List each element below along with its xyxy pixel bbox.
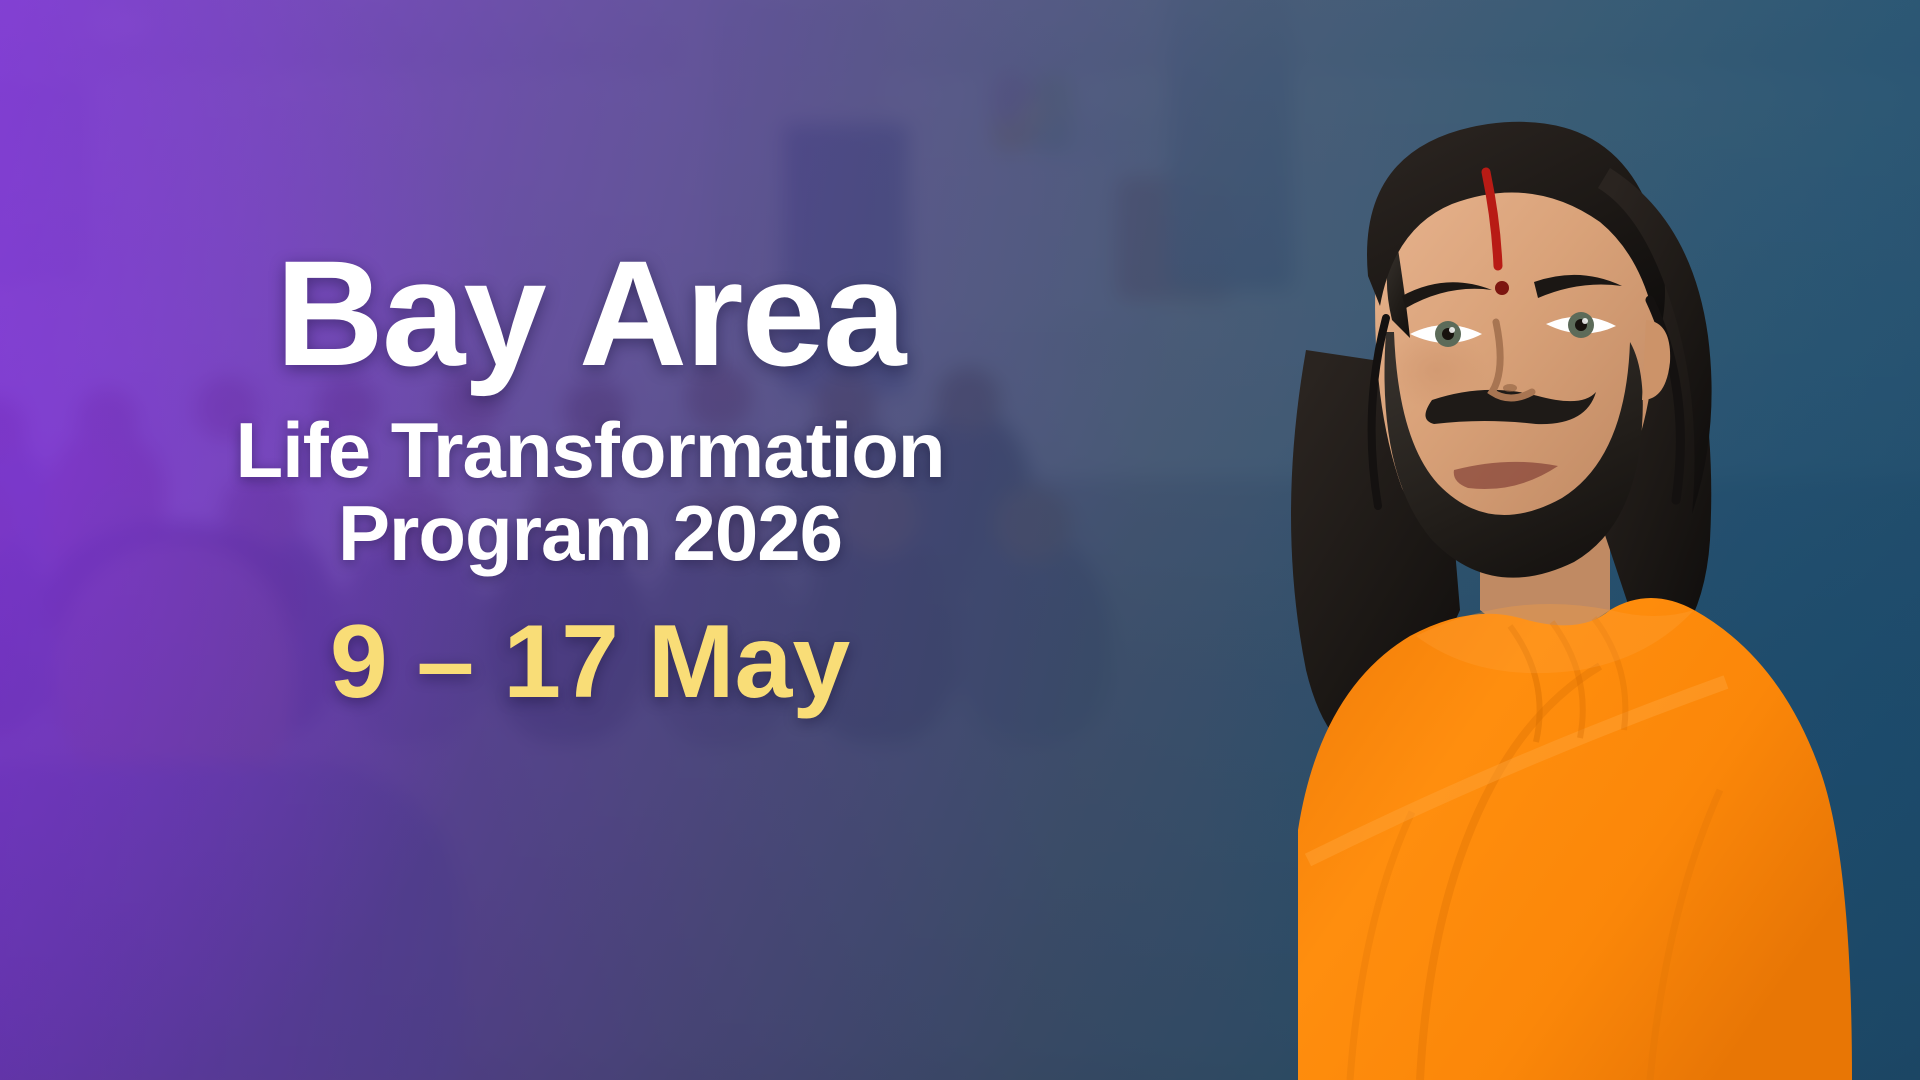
event-dates: 9 – 17 May	[150, 610, 1030, 714]
banner-subtitle-line1: Life Transformation	[235, 406, 944, 494]
banner-subtitle-line2: Program 2026	[150, 492, 1030, 575]
event-promo-banner: Bay Area Life Transformation Program 202…	[0, 0, 1920, 1080]
banner-text-block: Bay Area Life Transformation Program 202…	[150, 240, 1030, 714]
page-title: Bay Area	[150, 240, 1030, 387]
banner-subtitle: Life Transformation Program 2026	[150, 409, 1030, 576]
tilak-bindu	[1495, 281, 1509, 295]
swami-portrait	[1180, 70, 1900, 1080]
